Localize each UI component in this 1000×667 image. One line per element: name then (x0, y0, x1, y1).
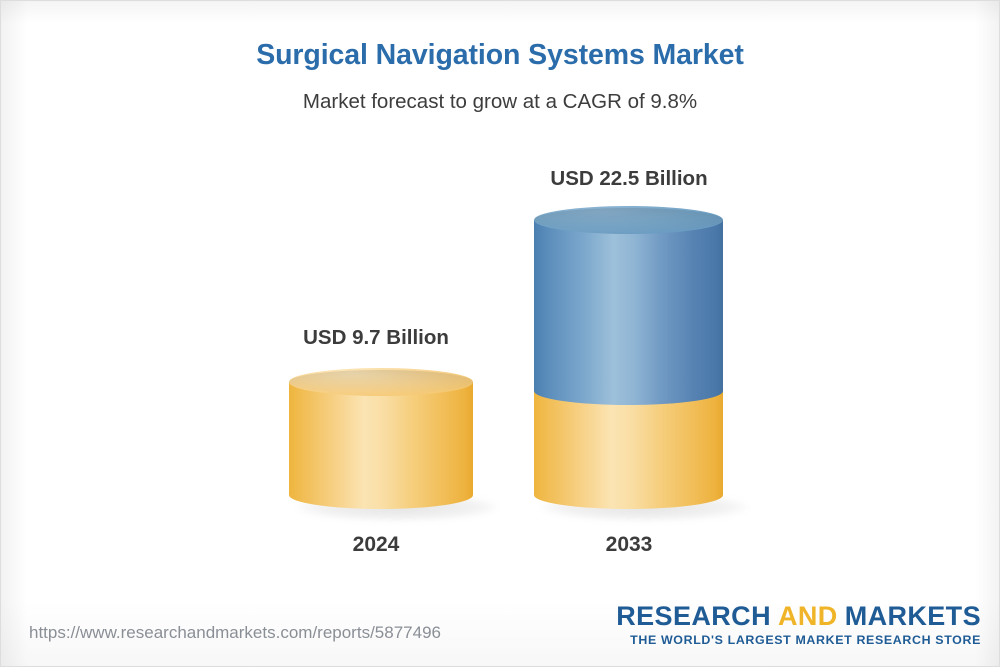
brand-name: RESEARCHANDMARKETS (616, 602, 981, 630)
brand-logo[interactable]: RESEARCHANDMARKETS THE WORLD'S LARGEST M… (616, 602, 981, 647)
data-label-2024: USD 9.7 Billion (269, 326, 483, 350)
cylinder-body-2024-base (289, 382, 473, 495)
bar-cylinder-2033[interactable] (534, 206, 723, 509)
source-url[interactable]: https://www.researchandmarkets.com/repor… (29, 623, 441, 643)
cylinder-top-cap-2024 (289, 368, 473, 396)
data-label-2033: USD 22.5 Billion (522, 167, 736, 191)
cylinder-body-2033-base (534, 391, 723, 495)
brand-word-research: RESEARCH (616, 601, 771, 631)
cylinder-bottom-cap-2024 (289, 481, 473, 509)
chart-subtitle: Market forecast to grow at a CAGR of 9.8… (1, 90, 999, 114)
bar-cylinder-2024[interactable] (289, 368, 473, 509)
brand-word-and: AND (778, 601, 838, 631)
chart-canvas: Surgical Navigation Systems Market Marke… (0, 0, 1000, 667)
cylinder-body-2033-growth (534, 220, 723, 391)
category-label-2033: 2033 (522, 533, 736, 557)
brand-tagline: THE WORLD'S LARGEST MARKET RESEARCH STOR… (616, 633, 981, 647)
cylinder-top-cap-2033 (534, 206, 723, 234)
brand-word-markets: MARKETS (845, 601, 981, 631)
cylinder-bottom-cap-2033 (534, 481, 723, 509)
category-label-2024: 2024 (269, 533, 483, 557)
chart-title: Surgical Navigation Systems Market (1, 39, 999, 72)
cylinder-segment-seam-2033 (534, 377, 723, 405)
